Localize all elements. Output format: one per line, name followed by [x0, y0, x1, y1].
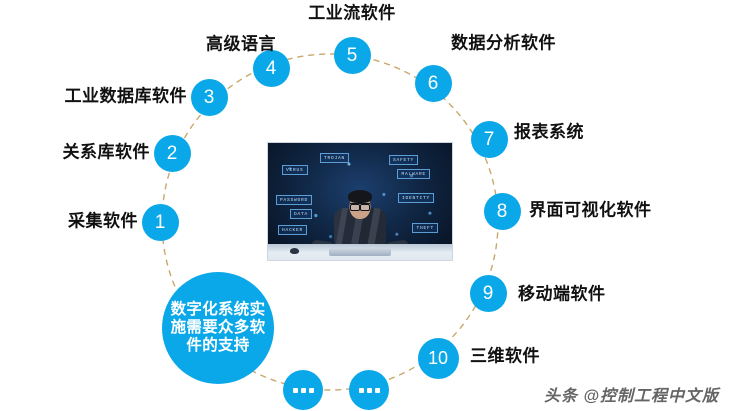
- node-circle-3[interactable]: 3: [191, 79, 228, 116]
- center-photo: VIRUS PASSWORD HACKER IDENTITY MALWARE T…: [267, 142, 453, 261]
- photo-tag-1: PASSWORD: [276, 195, 312, 205]
- ellipsis-node-2[interactable]: [349, 370, 389, 410]
- center-summary-bubble: 数字化系统实施需要众多软件的支持: [162, 272, 274, 384]
- node-circle-10[interactable]: 10: [418, 338, 459, 379]
- ellipsis-dot: [375, 388, 380, 393]
- node-circle-2[interactable]: 2: [154, 135, 191, 172]
- person-glasses: [350, 203, 370, 209]
- photo-person: [334, 186, 386, 246]
- photo-tag-4: MALWARE: [397, 169, 430, 179]
- node-circle-8[interactable]: 8: [484, 193, 521, 230]
- node-label-3: 工业数据库软件: [65, 88, 188, 107]
- ellipsis-dot: [367, 388, 372, 393]
- photo-tag-5: THEFT: [412, 223, 438, 233]
- node-label-10: 三维软件: [470, 348, 540, 367]
- ellipsis-dot: [359, 388, 364, 393]
- node-label-4: 高级语言: [206, 36, 276, 55]
- watermark: 头条 @控制工程中文版: [544, 382, 719, 406]
- node-circle-5[interactable]: 5: [334, 37, 371, 74]
- photo-tag-7: SAFETY: [389, 155, 418, 165]
- node-label-1: 采集软件: [68, 213, 138, 232]
- node-label-9: 移动端软件: [518, 286, 606, 305]
- node-label-2: 关系库软件: [63, 144, 151, 163]
- ellipsis-node-1[interactable]: [283, 370, 323, 410]
- node-circle-4[interactable]: 4: [253, 50, 290, 87]
- ellipsis-dot: [293, 388, 298, 393]
- node-circle-6[interactable]: 6: [415, 65, 452, 102]
- node-circle-7[interactable]: 7: [471, 121, 508, 158]
- photo-tag-6: DATA: [290, 209, 312, 219]
- photo-tag-0: VIRUS: [282, 165, 308, 175]
- person-hair: [348, 190, 372, 203]
- photo-tag-3: IDENTITY: [398, 193, 434, 203]
- photo-tag-2: HACKER: [278, 225, 307, 235]
- node-circle-1[interactable]: 1: [142, 204, 179, 241]
- ellipsis-dot: [301, 388, 306, 393]
- ellipsis-dot: [309, 388, 314, 393]
- infographic-canvas: VIRUS PASSWORD HACKER IDENTITY MALWARE T…: [0, 0, 729, 411]
- photo-tag-8: TROJAN: [320, 153, 349, 163]
- node-label-5: 工业流软件: [308, 5, 396, 24]
- node-circle-9[interactable]: 9: [470, 275, 507, 312]
- node-label-6: 数据分析软件: [451, 35, 556, 54]
- photo-keyboard: [329, 248, 391, 256]
- node-label-7: 报表系统: [514, 124, 584, 143]
- node-label-8: 界面可视化软件: [529, 202, 652, 221]
- photo-mouse: [290, 248, 299, 254]
